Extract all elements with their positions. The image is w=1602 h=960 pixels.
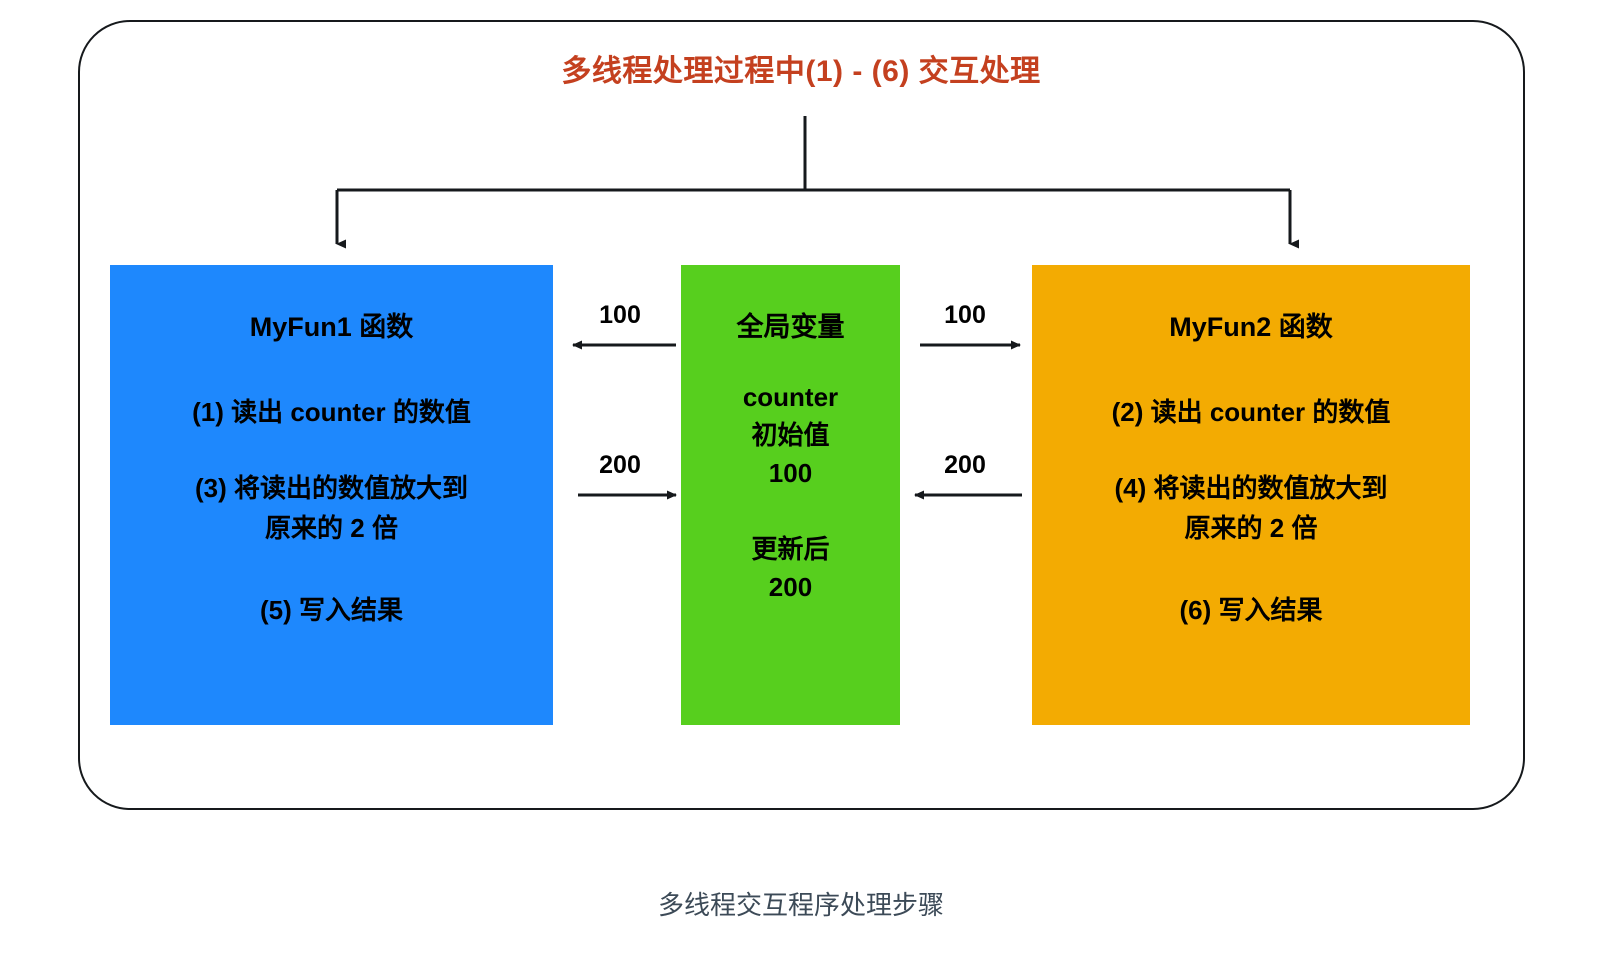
counter-var-name: counter (743, 378, 838, 416)
myfun2-step-4-line2: 原来的 2 倍 (1114, 508, 1387, 548)
diagram-title: 多线程处理过程中(1) - (6) 交互处理 (0, 52, 1602, 92)
myfun1-step-3: (3) 将读出的数值放大到 原来的 2 倍 (179, 468, 484, 548)
arrow-label-right-top: 100 (910, 300, 1020, 330)
counter-initial-label: 初始值 (743, 416, 838, 454)
counter-initial-value: 100 (743, 454, 838, 492)
myfun1-box: MyFun1 函数 (1) 读出 counter 的数值 (3) 将读出的数值放… (110, 265, 553, 725)
myfun2-step-2: (2) 读出 counter 的数值 (1096, 392, 1407, 432)
global-variable-heading: 全局变量 (737, 310, 845, 344)
myfun1-step-5: (5) 写入结果 (244, 590, 419, 630)
counter-updated-value: 200 (751, 568, 829, 606)
counter-initial-group: counter 初始值 100 (743, 378, 838, 492)
myfun1-step-1: (1) 读出 counter 的数值 (176, 392, 487, 432)
myfun2-step-4-line1: (4) 将读出的数值放大到 (1114, 468, 1387, 508)
global-variable-box: 全局变量 counter 初始值 100 更新后 200 (681, 265, 900, 725)
counter-updated-label: 更新后 (751, 530, 829, 568)
arrow-label-right-bottom: 200 (910, 450, 1020, 480)
myfun1-step-3-line2: 原来的 2 倍 (195, 508, 468, 548)
myfun2-step-4: (4) 将读出的数值放大到 原来的 2 倍 (1098, 468, 1403, 548)
myfun2-heading: MyFun2 函数 (1169, 310, 1333, 344)
arrow-label-left-bottom: 200 (565, 450, 675, 480)
myfun1-heading: MyFun1 函数 (250, 310, 414, 344)
counter-updated-group: 更新后 200 (751, 530, 829, 606)
arrow-label-left-top: 100 (565, 300, 675, 330)
myfun2-box: MyFun2 函数 (2) 读出 counter 的数值 (4) 将读出的数值放… (1032, 265, 1470, 725)
myfun2-step-6: (6) 写入结果 (1163, 590, 1338, 630)
diagram-canvas: 多线程处理过程中(1) - (6) 交互处理 (0, 0, 1602, 960)
myfun1-step-3-line1: (3) 将读出的数值放大到 (195, 468, 468, 508)
figure-caption: 多线程交互程序处理步骤 (0, 888, 1602, 922)
